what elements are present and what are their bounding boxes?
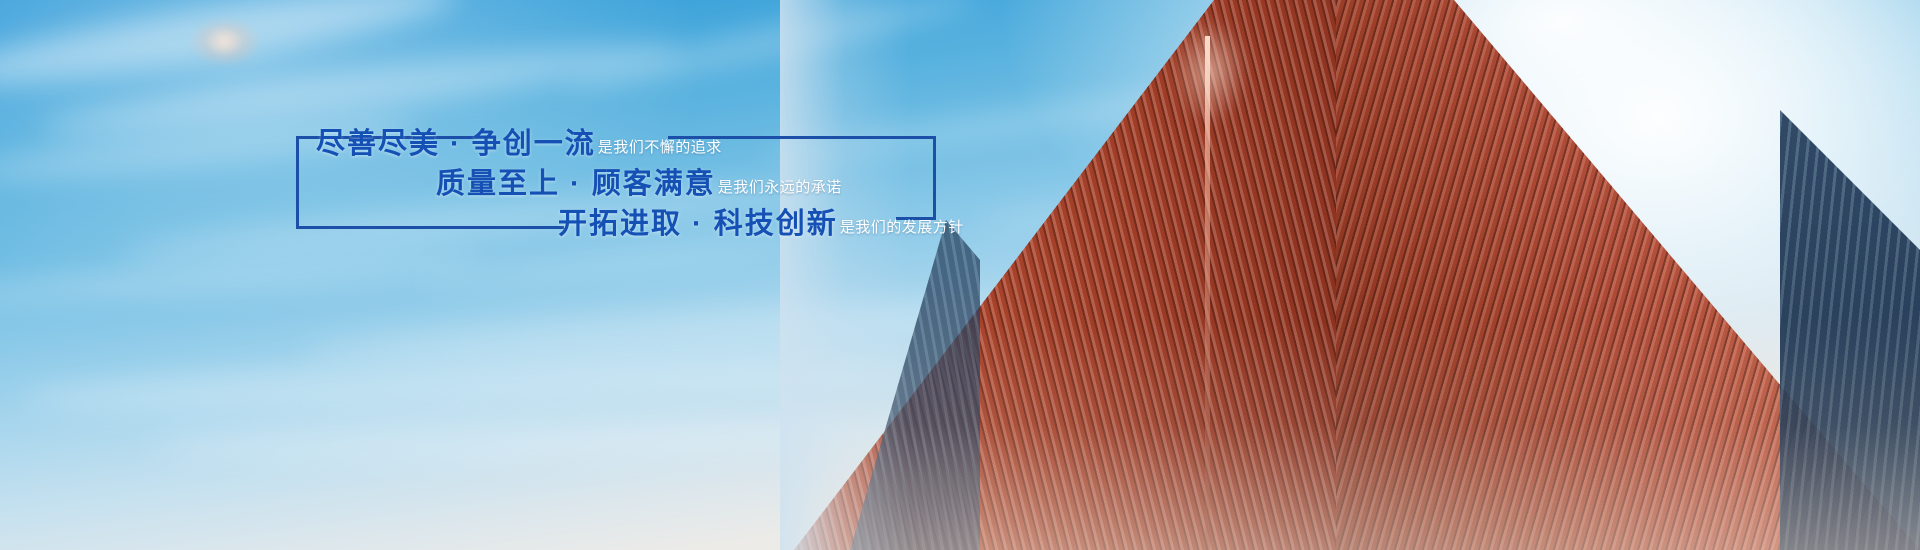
slogan-line-2: 质量至上 · 顾客满意 是我们永远的承诺 <box>436 160 842 202</box>
slogan-line-2-headline: 质量至上 · 顾客满意 <box>436 160 716 202</box>
banner-root: 尽善尽美 · 争创一流 是我们不懈的追求 质量至上 · 顾客满意 是我们永远的承… <box>0 0 1920 550</box>
building-edge-blend <box>780 0 910 550</box>
lens-flare-core-icon <box>205 26 243 56</box>
slogan-line-1-subtext: 是我们不懈的追求 <box>598 136 722 157</box>
cloud-streak <box>0 246 480 313</box>
slogan-line-3-headline: 开拓进取 · 科技创新 <box>558 200 838 242</box>
slogan-line-3: 开拓进取 · 科技创新 是我们的发展方针 <box>558 200 964 242</box>
slogan-block: 尽善尽美 · 争创一流 是我们不懈的追求 质量至上 · 顾客满意 是我们永远的承… <box>296 136 946 241</box>
building-apex-glow <box>1172 16 1248 126</box>
building-haze-overlay <box>780 320 1920 550</box>
slogan-line-1-headline: 尽善尽美 · 争创一流 <box>316 120 596 162</box>
slogan-line-1: 尽善尽美 · 争创一流 是我们不懈的追求 <box>316 120 722 162</box>
frame-bottom-segment <box>296 226 564 229</box>
frame-left-rail <box>296 136 299 229</box>
slogan-line-2-subtext: 是我们永远的承诺 <box>718 176 842 197</box>
slogan-line-3-subtext: 是我们的发展方针 <box>840 216 964 237</box>
building-photo <box>780 0 1920 550</box>
